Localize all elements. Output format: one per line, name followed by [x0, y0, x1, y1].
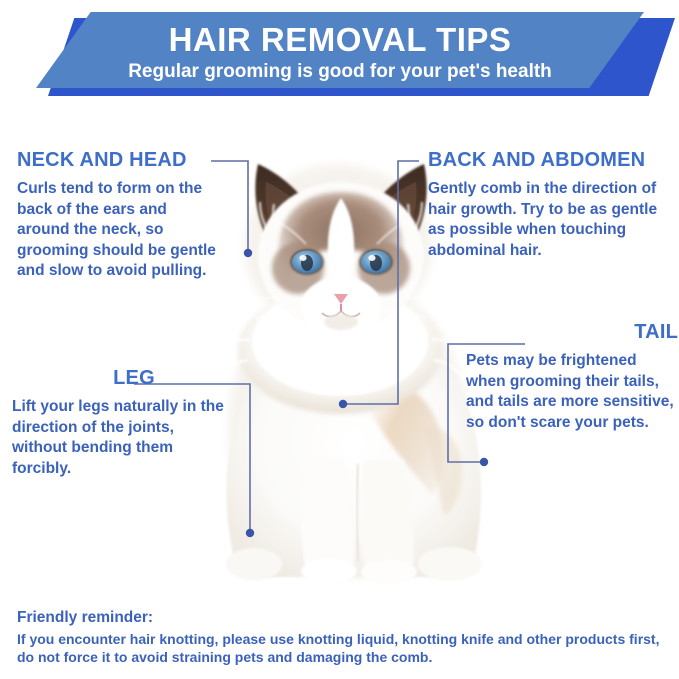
friendly-reminder-body: If you encounter hair knotting, please u… [17, 630, 667, 667]
callout-tail: TAIL Pets may be frightened when groomin… [466, 322, 678, 433]
header-banner: HAIR REMOVAL TIPS Regular grooming is go… [0, 0, 679, 100]
callout-leg: LEG Lift your legs naturally in the dire… [12, 368, 227, 479]
friendly-reminder-label: Friendly reminder: [17, 608, 667, 628]
callout-back-and-abdomen: BACK AND ABDOMEN Gently comb in the dire… [428, 150, 676, 261]
page-subtitle: Regular grooming is good for your pet's … [128, 61, 552, 83]
callout-title-leg: LEG [74, 368, 194, 388]
callout-body-back-and-abdomen: Gently comb in the direction of hair gro… [428, 179, 676, 261]
callout-body-tail: Pets may be frightened when grooming the… [466, 351, 678, 433]
callout-neck-and-head: NECK AND HEAD Curls tend to form on the … [17, 150, 222, 282]
callout-body-leg: Lift your legs naturally in the directio… [12, 397, 227, 479]
callout-body-neck-and-head: Curls tend to form on the back of the ea… [17, 179, 222, 282]
friendly-reminder: Friendly reminder: If you encounter hair… [17, 608, 667, 667]
callout-title-neck-and-head: NECK AND HEAD [17, 150, 222, 170]
callout-title-back-and-abdomen: BACK AND ABDOMEN [428, 150, 676, 170]
banner-text-group: HAIR REMOVAL TIPS Regular grooming is go… [36, 12, 644, 94]
page-title: HAIR REMOVAL TIPS [169, 23, 512, 58]
callout-title-tail: TAIL [466, 322, 678, 342]
cat-eye-right [359, 249, 393, 275]
cat-eye-left [290, 249, 324, 275]
